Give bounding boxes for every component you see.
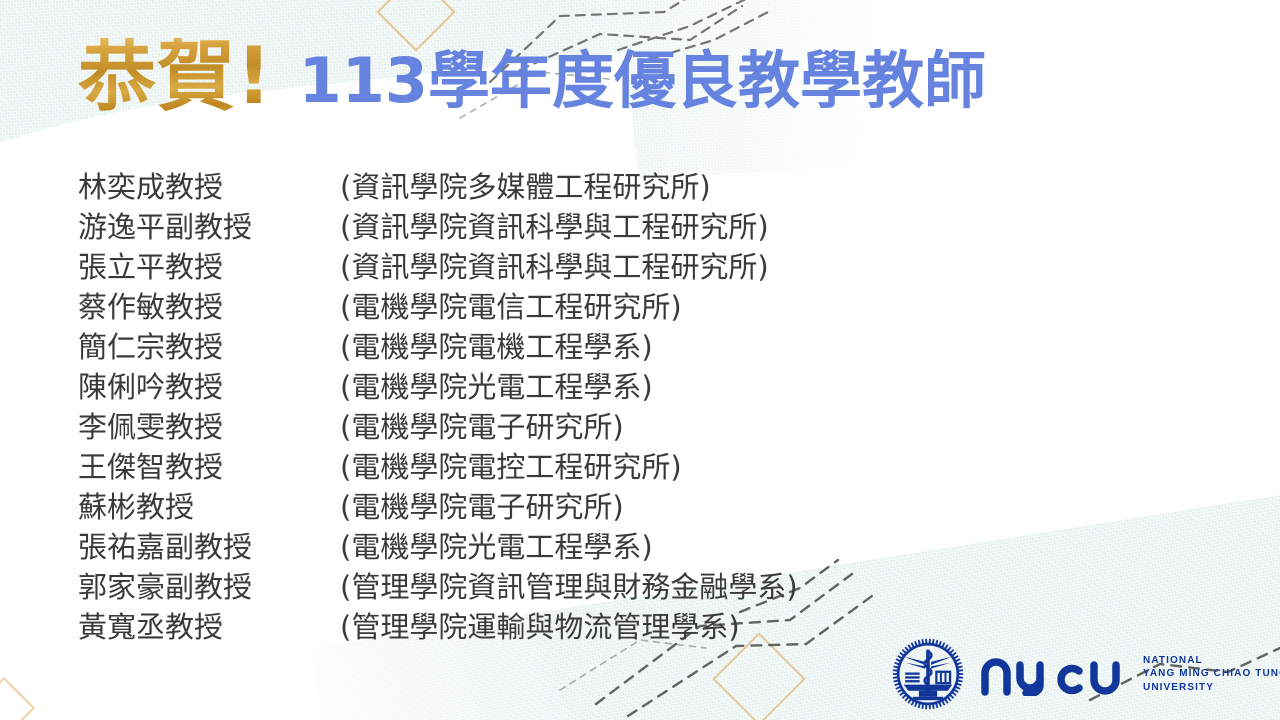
nycu-logo-lockup: NATIONAL YANG MING CHIAO TUNG UNIVERSITY [890, 636, 1280, 712]
honoree-name: 林奕成教授 [78, 164, 340, 206]
honoree-department: (電機學院光電工程學系) [340, 524, 653, 566]
honoree-name: 王傑智教授 [78, 444, 340, 486]
university-name-line-1: NATIONAL [1143, 654, 1280, 668]
honoree-name: 張立平教授 [78, 244, 340, 286]
honoree-row: 張立平教授(資訊學院資訊科學與工程研究所) [78, 244, 1078, 284]
honoree-name: 簡仁宗教授 [78, 324, 340, 366]
honoree-row: 陳俐吟教授(電機學院光電工程學系) [78, 364, 1078, 404]
honoree-name: 郭家豪副教授 [78, 564, 340, 606]
honoree-name: 蔡作敏教授 [78, 284, 340, 326]
honoree-row: 蔡作敏教授(電機學院電信工程研究所) [78, 284, 1078, 324]
honoree-row: 林奕成教授(資訊學院多媒體工程研究所) [78, 164, 1078, 204]
honoree-department: (電機學院電機工程學系) [340, 324, 653, 366]
nycu-wordmark: NATIONAL YANG MING CHIAO TUNG UNIVERSITY [980, 652, 1280, 696]
nycu-emblem-icon [890, 636, 966, 712]
honoree-department: (電機學院電子研究所) [340, 404, 624, 446]
honoree-department: (資訊學院資訊科學與工程研究所) [340, 244, 769, 286]
honoree-name: 張祐嘉副教授 [78, 524, 340, 566]
honoree-row: 張祐嘉副教授(電機學院光電工程學系) [78, 524, 1078, 564]
congratulations-text: 恭賀! [78, 38, 273, 118]
honoree-name: 蘇彬教授 [78, 484, 340, 526]
page-title: 113學年度優良教學教師 [299, 50, 986, 118]
honoree-row: 游逸平副教授(資訊學院資訊科學與工程研究所) [78, 204, 1078, 244]
honoree-name: 陳俐吟教授 [78, 364, 340, 406]
honoree-department: (資訊學院資訊科學與工程研究所) [340, 204, 769, 246]
honoree-department: (管理學院資訊管理與財務金融學系) [340, 564, 798, 606]
honoree-department: (電機學院光電工程學系) [340, 364, 653, 406]
honoree-row: 蘇彬教授(電機學院電子研究所) [78, 484, 1078, 524]
honoree-name: 黃寬丞教授 [78, 604, 340, 646]
gold-diamond-outline-icon [0, 677, 35, 720]
university-name-block: NATIONAL YANG MING CHIAO TUNG UNIVERSITY [1143, 654, 1280, 695]
honoree-department: (資訊學院多媒體工程研究所) [340, 164, 711, 206]
nycu-lettermark-icon [980, 652, 1130, 696]
honoree-department: (電機學院電子研究所) [340, 484, 624, 526]
honoree-department: (電機學院電控工程研究所) [340, 444, 682, 486]
honoree-row: 簡仁宗教授(電機學院電機工程學系) [78, 324, 1078, 364]
university-name-line-2: YANG MING CHIAO TUNG [1143, 667, 1280, 681]
university-name-line-3: UNIVERSITY [1143, 681, 1280, 695]
honoree-row: 王傑智教授(電機學院電控工程研究所) [78, 444, 1078, 484]
slide-headline: 恭賀! 113學年度優良教學教師 [78, 38, 986, 118]
honoree-row: 李佩雯教授(電機學院電子研究所) [78, 404, 1078, 444]
honoree-list: 林奕成教授(資訊學院多媒體工程研究所)游逸平副教授(資訊學院資訊科學與工程研究所… [78, 164, 1078, 644]
honoree-name: 李佩雯教授 [78, 404, 340, 446]
presentation-slide: 恭賀! 113學年度優良教學教師 林奕成教授(資訊學院多媒體工程研究所)游逸平副… [0, 0, 1280, 720]
honoree-row: 郭家豪副教授(管理學院資訊管理與財務金融學系) [78, 564, 1078, 604]
honoree-name: 游逸平副教授 [78, 204, 340, 246]
honoree-department: (電機學院電信工程研究所) [340, 284, 682, 326]
honoree-department: (管理學院運輸與物流管理學系) [340, 604, 740, 646]
